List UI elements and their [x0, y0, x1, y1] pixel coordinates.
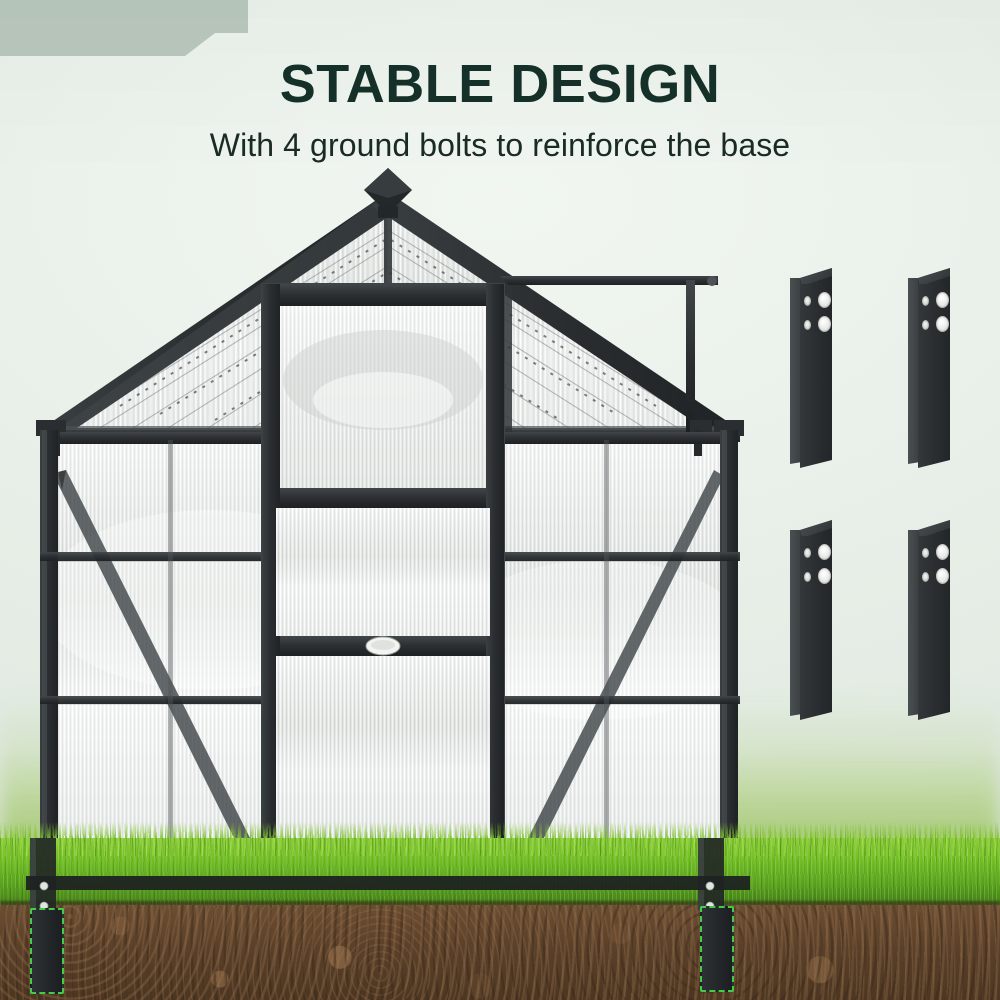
product-marketing-image: STABLE DESIGN With 4 ground bolts to rei… [0, 0, 1000, 1000]
image-vignette [0, 0, 1000, 1000]
